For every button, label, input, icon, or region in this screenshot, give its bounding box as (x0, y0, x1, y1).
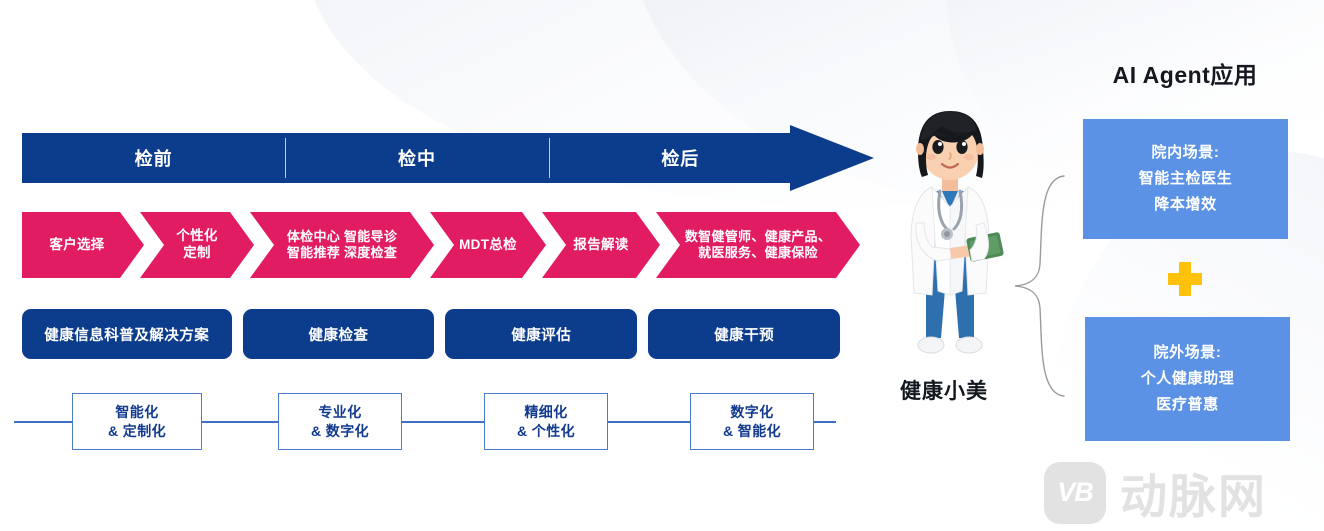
stage-box-label: 健康评估 (511, 324, 571, 345)
scene-card-outside-hospital: 院外场景: 个人健康助理 医疗普惠 (1085, 317, 1290, 441)
character-name-label: 健康小美 (900, 375, 988, 405)
phase-item-pre: 检前 (22, 125, 285, 191)
agent-panel-title: AI Agent应用 (1090, 56, 1280, 90)
journey-step-label: 数智健管师、健康产品、 就医服务、健康保险 (685, 229, 831, 262)
phase-item-post: 检后 (549, 125, 812, 191)
journey-step: 报告解读 (542, 212, 660, 278)
journey-step-label: 体检中心 智能导诊 智能推荐 深度检查 (287, 229, 397, 262)
stage-box: 健康干预 (648, 309, 840, 359)
scene-outside-label: 院外场景: 个人健康助理 医疗普惠 (1141, 340, 1235, 417)
capability-box: 精细化 & 个性化 (484, 393, 608, 450)
capability-box: 数字化 & 智能化 (690, 393, 814, 450)
capability-label: 精细化 & 个性化 (517, 403, 575, 441)
capability-label: 智能化 & 定制化 (108, 403, 166, 441)
stage-box: 健康信息科普及解决方案 (22, 309, 232, 359)
stage-box-label: 健康干预 (714, 324, 774, 345)
scene-card-inside-hospital: 院内场景: 智能主检医生 降本增效 (1083, 119, 1288, 239)
capability-row: 智能化 & 定制化 专业化 & 数字化 精细化 & 个性化 数字化 & 智能化 (14, 393, 836, 451)
phase-label: 检前 (135, 145, 173, 171)
journey-step: 体检中心 智能导诊 智能推荐 深度检查 (250, 212, 434, 278)
journey-step-label: 客户选择 (49, 237, 104, 254)
phase-arrow-banner: 检前 检中 检后 (22, 125, 874, 191)
agent-panel-title-label: AI Agent应用 (1113, 56, 1258, 90)
journey-step: 数智健管师、健康产品、 就医服务、健康保险 (656, 212, 860, 278)
character-name-badge: 健康小美 (884, 375, 1004, 405)
plus-icon (1168, 262, 1202, 296)
journey-step: MDT总检 (430, 212, 546, 278)
brace-connector (1012, 172, 1070, 400)
journey-step-label: 报告解读 (573, 237, 628, 254)
capability-label: 专业化 & 数字化 (311, 403, 369, 441)
capability-label: 数字化 & 智能化 (723, 403, 781, 441)
stage-box-label: 健康检查 (308, 324, 368, 345)
capability-box: 智能化 & 定制化 (72, 393, 202, 450)
phase-item-during: 检中 (285, 125, 548, 191)
capability-box: 专业化 & 数字化 (278, 393, 402, 450)
journey-step: 客户选择 (22, 212, 144, 278)
watermark-logo-mark: VB (1044, 462, 1106, 524)
stage-box-label: 健康信息科普及解决方案 (44, 324, 209, 345)
watermark-brand-text: 动脉网 (1120, 458, 1267, 527)
stage-box: 健康检查 (243, 309, 435, 359)
phase-label: 检后 (661, 145, 699, 171)
phase-label-group: 检前 检中 检后 (22, 125, 812, 191)
watermark: VB 动脉网 (1044, 458, 1267, 527)
plus-icon-vertical-bar (1179, 262, 1191, 296)
journey-step-label: MDT总检 (459, 237, 517, 254)
stage-box: 健康评估 (445, 309, 637, 359)
journey-step-label: 个性化 定制 (176, 228, 217, 262)
stage-box-row: 健康信息科普及解决方案 健康检查 健康评估 健康干预 (22, 309, 840, 359)
phase-label: 检中 (398, 145, 436, 171)
journey-step: 个性化 定制 (140, 212, 254, 278)
infographic-canvas: 检前 检中 检后 客户选择 个性化 定制 体检中心 智能导诊 智能推荐 深度检查… (0, 0, 1324, 531)
doctor-character-illustration (880, 95, 1020, 370)
scene-inside-label: 院内场景: 智能主检医生 降本增效 (1139, 140, 1233, 217)
